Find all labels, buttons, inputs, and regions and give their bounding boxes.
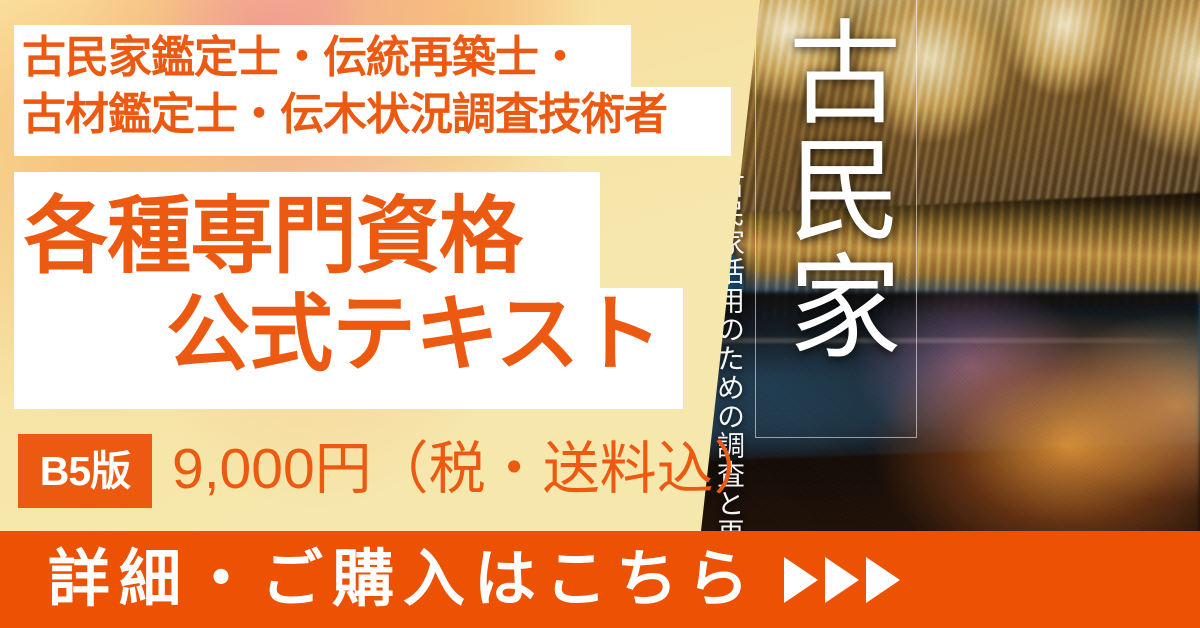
main-title-line-1: 各種専門資格 (24, 194, 522, 278)
price-row: B5版 9,000円（税・送料込） (0, 424, 700, 520)
promo-banner: 古民家 伝統構法 古民家活用のための調査と再生の 古民家鑑定士・伝統再築士・ 古… (0, 0, 1200, 628)
main-title-line-2: 公式テキスト (166, 292, 661, 376)
chevron-right-icon (784, 557, 818, 603)
cta-label: 詳細・ご購入はこちら (48, 549, 758, 611)
chevron-right-icon (866, 557, 900, 603)
book-title: 古民家 (778, 14, 896, 365)
format-badge: B5版 (18, 434, 152, 508)
chevron-right-icon (825, 557, 859, 603)
cta-bar[interactable]: 詳細・ご購入はこちら (0, 531, 1200, 628)
price-text: 9,000円（税・送料込） (172, 441, 771, 498)
qualifications-line-2: 古材鑑定士・伝木状況調査技術者 (22, 93, 667, 137)
cta-arrows (784, 557, 900, 603)
qualifications-line-1: 古民家鑑定士・伝統再築士・ (22, 36, 581, 80)
format-badge-label: B5版 (40, 451, 130, 492)
